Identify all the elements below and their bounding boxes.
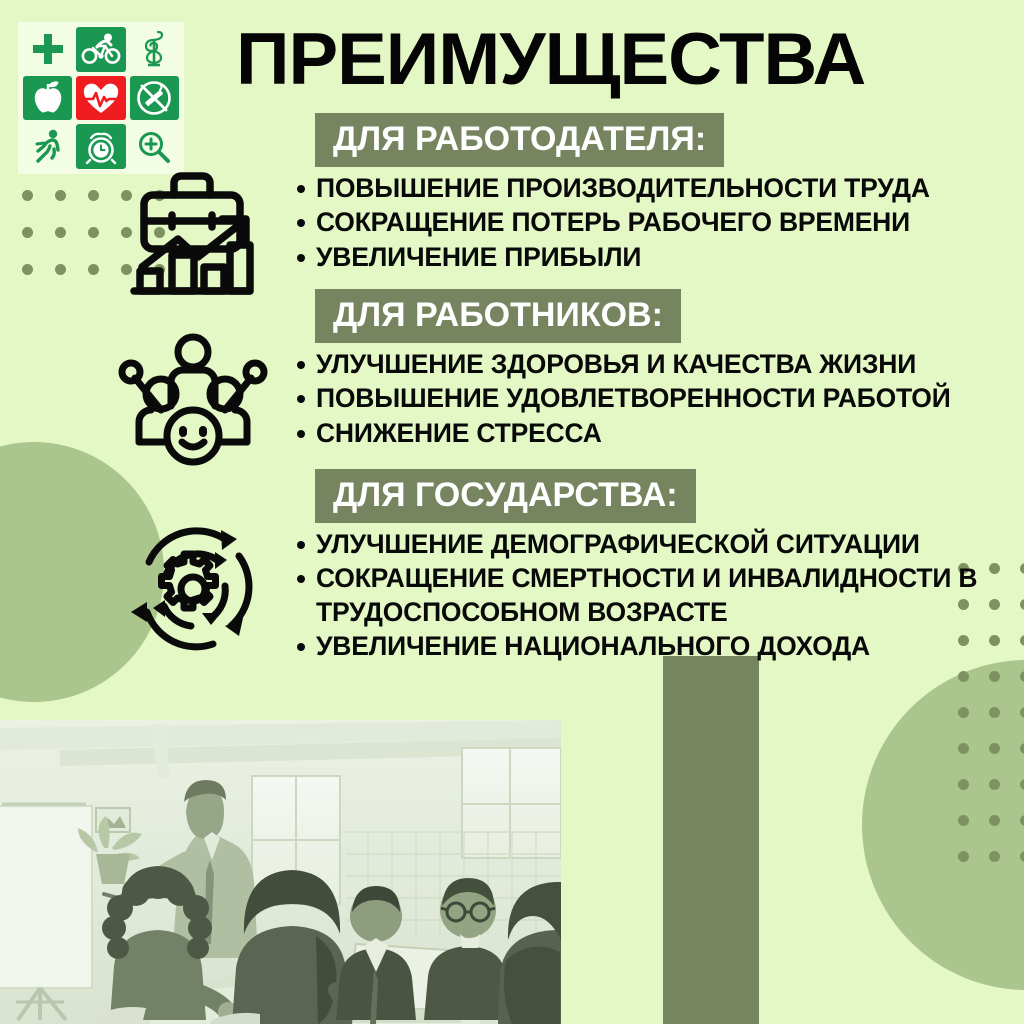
decorative-vertical-bar <box>663 656 759 1024</box>
health-icons-grid <box>18 22 184 174</box>
grid-cell-apple <box>23 76 72 121</box>
no-smoking-icon <box>136 80 172 116</box>
magnifier-plus-icon <box>137 130 171 164</box>
grid-cell-cycling <box>76 27 125 72</box>
bullet-list-employees: УЛУЧШЕНИЕ ЗДОРОВЬЯ И КАЧЕСТВА ЖИЗНИ ПОВЫ… <box>288 348 1024 450</box>
list-item: ПОВЫШЕНИЕ ПРОИЗВОДИТЕЛЬНОСТИ ТРУДА <box>288 172 1024 205</box>
bullet-list-employer: ПОВЫШЕНИЕ ПРОИЗВОДИТЕЛЬНОСТИ ТРУДА СОКРА… <box>288 172 1024 274</box>
grid-cell-bowl-of-hygieia <box>130 27 179 72</box>
team-celebration-icon <box>113 330 273 470</box>
list-item: УЛУЧШЕНИЕ ЗДОРОВЬЯ И КАЧЕСТВА ЖИЗНИ <box>288 348 1024 381</box>
section-header-state: ДЛЯ ГОСУДАРСТВА: <box>315 469 696 523</box>
briefcase-growth-chart-icon <box>122 163 262 303</box>
cycling-icon <box>81 32 121 66</box>
infographic-poster: ПРЕИМУЩЕСТВА <box>0 0 1024 1024</box>
heart-pulse-icon <box>82 81 120 115</box>
page-title: ПРЕИМУЩЕСТВА <box>236 23 1024 96</box>
grid-cell-medical-cross <box>23 27 72 72</box>
list-item: УЛУЧШЕНИЕ ДЕМОГРАФИЧЕСКОЙ СИТУАЦИИ <box>288 528 1024 561</box>
gear-cycle-icon <box>113 508 273 668</box>
business-meeting-photo <box>0 720 561 1024</box>
list-item: СОКРАЩЕНИЕ СМЕРТНОСТИ И ИНВАЛИДНОСТИ В Т… <box>288 562 1024 629</box>
apple-icon <box>31 80 65 116</box>
section-employer: ДЛЯ РАБОТОДАТЕЛЯ: ПОВЫШЕНИЕ ПРОИЗВОДИТЕЛ… <box>288 113 1024 275</box>
list-item: СОКРАЩЕНИЕ ПОТЕРЬ РАБОЧЕГО ВРЕМЕНИ <box>288 206 1024 239</box>
medical-cross-icon <box>31 32 65 66</box>
grid-cell-heart-pulse <box>76 76 125 121</box>
list-item: УВЕЛИЧЕНИЕ ПРИБЫЛИ <box>288 241 1024 274</box>
section-header-employees: ДЛЯ РАБОТНИКОВ: <box>315 289 681 343</box>
list-item: УВЕЛИЧЕНИЕ НАЦИОНАЛЬНОГО ДОХОДА <box>288 630 1024 663</box>
grid-cell-alarm-clock <box>76 124 125 169</box>
alarm-clock-icon <box>83 129 119 165</box>
section-state: ДЛЯ ГОСУДАРСТВА: УЛУЧШЕНИЕ ДЕМОГРАФИЧЕСК… <box>288 469 1024 665</box>
section-employees: ДЛЯ РАБОТНИКОВ: УЛУЧШЕНИЕ ЗДОРОВЬЯ И КАЧ… <box>288 289 1024 451</box>
section-header-employer: ДЛЯ РАБОТОДАТЕЛЯ: <box>315 113 724 167</box>
list-item: ПОВЫШЕНИЕ УДОВЛЕТВОРЕННОСТИ РАБОТОЙ <box>288 382 1024 415</box>
bullet-list-state: УЛУЧШЕНИЕ ДЕМОГРАФИЧЕСКОЙ СИТУАЦИИ СОКРА… <box>288 528 1024 664</box>
bowl-of-hygieia-icon <box>139 31 169 67</box>
running-person-icon <box>32 129 64 165</box>
grid-cell-no-smoking <box>130 76 179 121</box>
grid-cell-running-person <box>23 124 72 169</box>
list-item: СНИЖЕНИЕ СТРЕССА <box>288 417 1024 450</box>
business-meeting-photo-illustration <box>0 720 561 1024</box>
